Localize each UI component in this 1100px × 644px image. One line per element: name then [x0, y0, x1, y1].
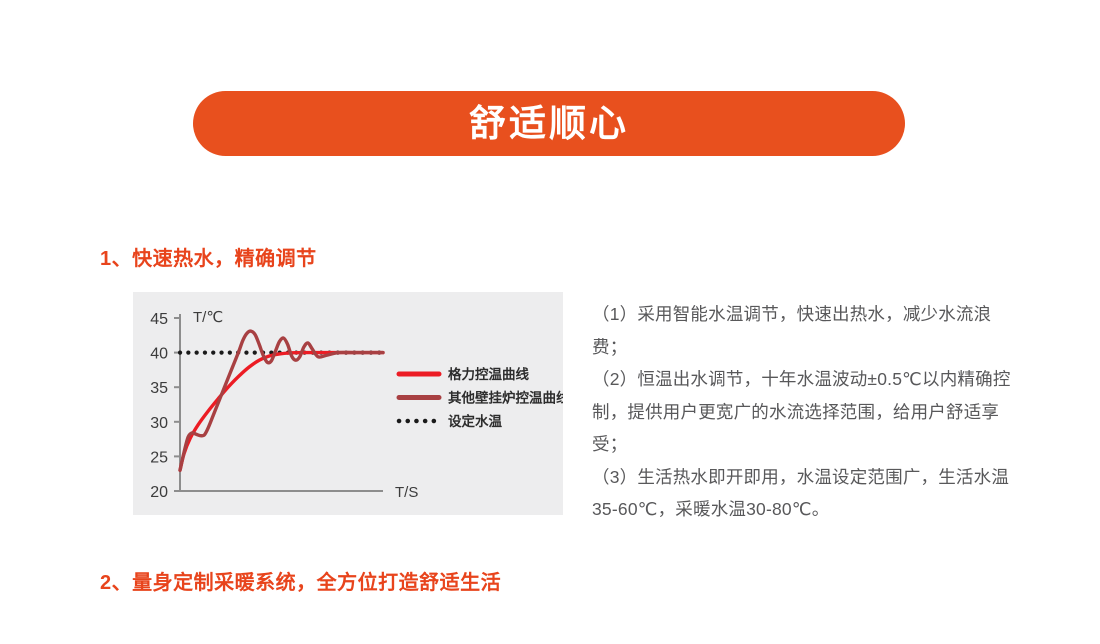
x-axis-label: T/S — [395, 484, 418, 501]
y-axis-tick-label: 20 — [150, 484, 168, 501]
chart-svg: 454035302520 T/℃ T/S 格力控温曲线其他壁挂炉控温曲线设定水温 — [133, 292, 563, 515]
legend-label: 其他壁挂炉控温曲线 — [448, 390, 563, 406]
y-axis-tick-label: 40 — [150, 346, 168, 363]
y-axis-tick-labels: 454035302520 — [150, 311, 168, 501]
legend-label: 格力控温曲线 — [448, 366, 529, 382]
temperature-control-chart: 454035302520 T/℃ T/S 格力控温曲线其他壁挂炉控温曲线设定水温 — [133, 292, 563, 515]
y-axis-tick-label: 35 — [150, 380, 168, 397]
y-axis-label: T/℃ — [193, 309, 223, 326]
section-heading-1: 1、快速热水，精确调节 — [100, 242, 317, 271]
chart-series — [180, 331, 383, 470]
description-paragraph-1: （1）采用智能水温调节，快速出热水，减少水流浪费； — [592, 298, 1012, 363]
y-axis-tick-label: 30 — [150, 415, 168, 432]
feature-description: （1）采用智能水温调节，快速出热水，减少水流浪费； （2）恒温出水调节，十年水温… — [592, 298, 1012, 526]
section-heading-2: 2、量身定制采暖系统，全方位打造舒适生活 — [100, 566, 501, 595]
title-banner: 舒适顺心 — [193, 91, 905, 156]
description-paragraph-3: （3）生活热水即开即用，水温设定范围广，生活水温35-60℃，采暖水温30-80… — [592, 461, 1012, 526]
y-axis-tick-label: 25 — [150, 449, 168, 466]
description-paragraph-2: （2）恒温出水调节，十年水温波动±0.5℃以内精确控制，提供用户更宽广的水流选择… — [592, 363, 1012, 461]
legend-label: 设定水温 — [448, 413, 502, 429]
chart-legend: 格力控温曲线其他壁挂炉控温曲线设定水温 — [399, 366, 563, 429]
page-title: 舒适顺心 — [469, 105, 629, 142]
y-axis-tick-label: 45 — [150, 311, 168, 328]
chart-line-ec1c24 — [180, 353, 383, 471]
